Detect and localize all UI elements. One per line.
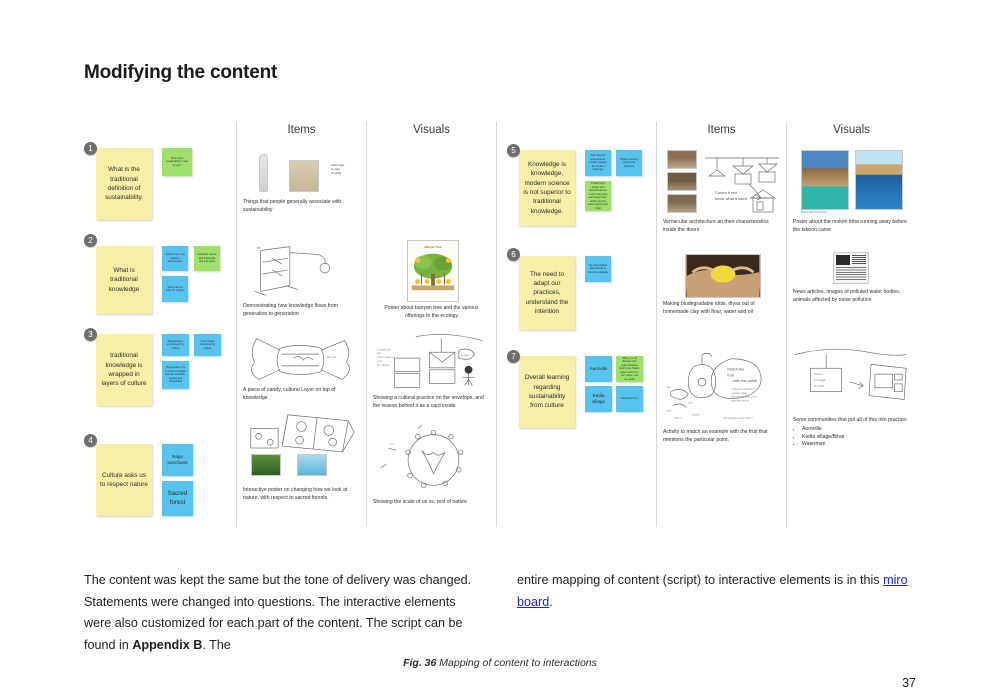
figure-caption-label: Fig. 36 <box>403 657 436 669</box>
page-number: 37 <box>902 676 916 690</box>
items-column-left: Items Paper bagsre-uses,recycling Things… <box>236 122 366 527</box>
row-badge: 4 <box>84 434 97 447</box>
svg-text:to do: to do <box>377 360 383 363</box>
paragraph-right-part1: entire mapping of content (script) to in… <box>517 573 883 587</box>
visuals-column-header: Visuals <box>787 122 916 148</box>
notes-column-right: 5 Knowledge is knowledge, modern science… <box>496 122 656 527</box>
svg-text:a card: a card <box>461 353 470 357</box>
vernacular-architecture-photos-and-sketch: Colour it red, know what it used <box>663 150 780 216</box>
visuals-cell: News articles, images of polluted water … <box>787 252 916 305</box>
items-caption: Vernacular architecture an their charact… <box>663 219 780 235</box>
visuals-caption: News articles, images of polluted water … <box>793 289 910 305</box>
svg-text:Match the: Match the <box>727 366 744 371</box>
page-title: Modifying the content <box>84 62 277 84</box>
sticky-note-main: What is traditional knowledge <box>96 246 152 314</box>
visuals-column-left: Visuals Banyan Tree <box>366 122 496 527</box>
row-badge: 7 <box>507 350 520 363</box>
content-row: 6 The need to adapt our practices, under… <box>497 248 656 344</box>
sticky-note-small: Our firecrackers alternatives to harmful… <box>585 256 611 282</box>
sticky-note-small: Watershed ers <box>616 386 643 412</box>
globe-scale-sketch: us <box>373 422 490 496</box>
interactive-poster-sketch <box>243 412 360 484</box>
svg-text:us: us <box>391 441 395 445</box>
sticky-note-small: What does sustainability mean to you? <box>162 148 192 176</box>
svg-text:this: this <box>377 352 381 355</box>
content-row: 7 Overall learning regarding sustainabil… <box>497 350 656 450</box>
list-item: Kedia village/Bihar <box>802 434 910 442</box>
svg-text:this example under Task 2: this example under Task 2 <box>723 417 753 420</box>
svg-text:and: and <box>688 402 693 405</box>
visuals-cell: Moken tribe and tsunami Poster about the… <box>787 150 916 235</box>
items-column-header: Items <box>657 122 786 148</box>
water-tap-knowledge-flow-sketch: tap <box>243 242 360 300</box>
items-caption: A piece of candy, cultural Layer on top … <box>243 387 360 403</box>
items-cell: the one A piece of candy, cultural Layer… <box>237 336 366 403</box>
sticky-note-small: Grandma stories about festivals that you… <box>194 246 220 271</box>
figure-caption-text: Mapping of content to interactions <box>439 657 597 669</box>
visuals-caption: Showing a cultural practice on the envel… <box>373 395 490 411</box>
items-caption: Things that people generally associate w… <box>243 199 360 215</box>
svg-text:of image: of image <box>814 378 826 382</box>
svg-text:the one: the one <box>327 355 337 359</box>
sticky-note-small: Stories from oral tradition, transmissio… <box>162 246 188 271</box>
sticky-note-main: Knowledge is knowledge, modern science i… <box>519 150 575 226</box>
figure-caption: Fig. 36 Mapping of content to interactio… <box>84 657 916 669</box>
envelope-and-card-sketch: a card a reason thatthis culture asked u… <box>373 330 490 392</box>
steel-bottle-and-cloth-bag-photos: Paper bagsre-uses,recycling <box>243 150 360 196</box>
sticky-note-main: What is the traditional definition of su… <box>96 148 152 220</box>
svg-text:know what it used: know what it used <box>715 196 747 201</box>
moken-tribe-comic-posters: Moken tribe and tsunami <box>793 150 910 216</box>
row-badge: 3 <box>84 328 97 341</box>
row-badge: 6 <box>507 248 520 261</box>
notes-column-left: 1 What is the traditional definition of … <box>84 122 236 527</box>
sticky-note-small: What you do through form years between G… <box>616 356 643 382</box>
sticky-note-main: The need to adapt our practices, underst… <box>519 256 575 330</box>
body-text: The content was kept the same but the to… <box>84 570 916 657</box>
paragraph-right: entire mapping of content (script) to in… <box>517 570 916 613</box>
svg-text:fruit: fruit <box>727 372 734 377</box>
content-row: 4 Culture asks us to respect nature Naga… <box>84 434 236 534</box>
sticky-note-small: Degeneration encouraged by culture <box>162 334 189 356</box>
svg-text:tap: tap <box>257 246 261 250</box>
items-column-right: Items <box>656 122 786 527</box>
document-page: Modifying the content 1 What is the trad… <box>0 0 1000 700</box>
appendix-reference: Appendix B <box>132 638 202 652</box>
items-cell: Paper bagsre-uses,recycling Things that … <box>237 150 366 215</box>
row-badge: 5 <box>507 144 520 157</box>
fruit-matching-activity-sketch: Match the fruit with the point! Using th… <box>663 348 780 426</box>
news-article-clipping <box>793 252 910 286</box>
svg-text:the practice: the practice <box>377 364 390 367</box>
content-row: 1 What is the traditional definition of … <box>84 142 236 232</box>
svg-text:mostly: mostly <box>692 413 700 416</box>
visuals-caption: Some communities that put all of this in… <box>793 417 910 449</box>
visuals-cell: Banyan Tree <box>367 240 496 321</box>
visuals-caption-text: Some communities that put all of this in… <box>793 417 908 423</box>
visuals-bullet-list: Auroville Kedia village/Bihar Waterman <box>802 426 910 449</box>
svg-text:Banyan Tree: Banyan Tree <box>424 245 441 249</box>
items-caption: Interactive poster on changing how we lo… <box>243 487 360 503</box>
body-column-left: The content was kept the same but the to… <box>84 570 483 657</box>
sticky-note-main: Overall learning regarding sustainabilit… <box>519 356 575 428</box>
list-item: Auroville <box>802 426 910 434</box>
visuals-caption: Poster about the moken tribe running awa… <box>793 219 910 235</box>
banyan-tree-poster: Banyan Tree <box>373 240 490 302</box>
paragraph-left-part2: . The <box>202 638 230 652</box>
svg-text:from it: from it <box>675 417 682 420</box>
sticky-note-small: Degeneration by a section of rituals tha… <box>162 361 189 389</box>
sticky-note-main: Culture asks us to respect nature <box>96 444 152 516</box>
sticky-note-small: Sacred forest <box>162 481 193 516</box>
svg-text:Using the material for: Using the material for <box>731 388 755 391</box>
sticky-note-small: Auroville <box>585 356 612 382</box>
row-badge: 1 <box>84 142 97 155</box>
svg-text:& in list: & in list <box>814 384 824 388</box>
items-cell: Making biodegradable idols, diyas out of… <box>657 254 786 317</box>
sticky-note-small: Tribals have known and documented so muc… <box>585 181 611 211</box>
svg-text:culture asked us: culture asked us <box>377 356 395 359</box>
items-cell: tap Demonstrating how knowledge flows fr… <box>237 242 366 319</box>
content-row: 5 Knowledge is knowledge, modern science… <box>497 144 656 244</box>
list-item: Waterman <box>802 441 910 449</box>
paragraph-left: The content was kept the same but the to… <box>84 570 483 657</box>
svg-text:way that can be: way that can be <box>731 400 749 403</box>
svg-text:that can be done in the: that can be done in the <box>731 396 757 399</box>
items-column-header: Items <box>237 122 366 148</box>
body-column-right: entire mapping of content (script) to in… <box>517 570 916 657</box>
poster-and-screen-sketch: Posterof image& in list <box>793 344 910 414</box>
items-cell: Interactive poster on changing how we lo… <box>237 412 366 503</box>
items-cell: Match the fruit with the point! Using th… <box>657 348 786 445</box>
figure-panel-left: 1 What is the traditional definition of … <box>84 122 496 527</box>
visuals-caption: Showing the scale of us vs. rest of natu… <box>373 499 490 507</box>
svg-text:the: the <box>667 386 671 389</box>
sticky-note-small: Kedia village <box>585 386 612 412</box>
visuals-cell: Posterof image& in list Some communities… <box>787 344 916 449</box>
items-caption: Activity to match an example with the fr… <box>663 429 780 445</box>
items-caption: Demonstrating how knowledge flows from g… <box>243 303 360 319</box>
wrapped-candy-sketch: the one <box>243 336 360 384</box>
figure-36: 1 What is the traditional definition of … <box>84 122 916 527</box>
items-cell: Colour it red, know what it used Vernacu… <box>657 150 786 235</box>
visuals-caption: Poster about banyan tree and the various… <box>373 305 490 321</box>
paragraph-right-part2: . <box>549 595 553 609</box>
visuals-cell: us Showing the scale of us vs. rest of n… <box>367 422 496 507</box>
row-badge: 2 <box>84 234 97 247</box>
sticky-note-small: Naga panchami <box>162 444 193 476</box>
content-row: 2 What is traditional knowledge Stories … <box>84 234 236 326</box>
sticky-note-small: Older sacred trees for regions <box>162 276 188 302</box>
content-row: 3 traditional knowledge is wrapped in la… <box>84 328 236 428</box>
svg-text:a reason that: a reason that <box>377 348 391 351</box>
svg-text:Poster: Poster <box>814 372 822 376</box>
svg-text:Colour it red,: Colour it red, <box>715 190 738 195</box>
sticky-note-main: traditional knowledge is wrapped in laye… <box>96 334 152 406</box>
items-caption: Making biodegradable idols, diyas out of… <box>663 301 780 317</box>
hands-making-clay-idol-photo <box>663 254 780 298</box>
figure-panel-right: 5 Knowledge is knowledge, modern science… <box>496 122 916 527</box>
svg-text:a simple ritual: a simple ritual <box>731 392 747 395</box>
sticky-note-small: Food waste mentioned by culture <box>194 334 221 356</box>
svg-text:with the point!: with the point! <box>733 378 757 383</box>
visuals-cell: a card a reason thatthis culture asked u… <box>367 330 496 411</box>
visuals-column-right: Visuals Moken tribe and tsunami Poster a… <box>786 122 916 527</box>
visuals-column-header: Visuals <box>367 122 496 148</box>
svg-text:this: this <box>667 409 672 412</box>
sticky-note-small: Tribals surviving using local sciences <box>616 150 642 176</box>
sticky-note-small: Self research and because modern people … <box>585 150 611 176</box>
